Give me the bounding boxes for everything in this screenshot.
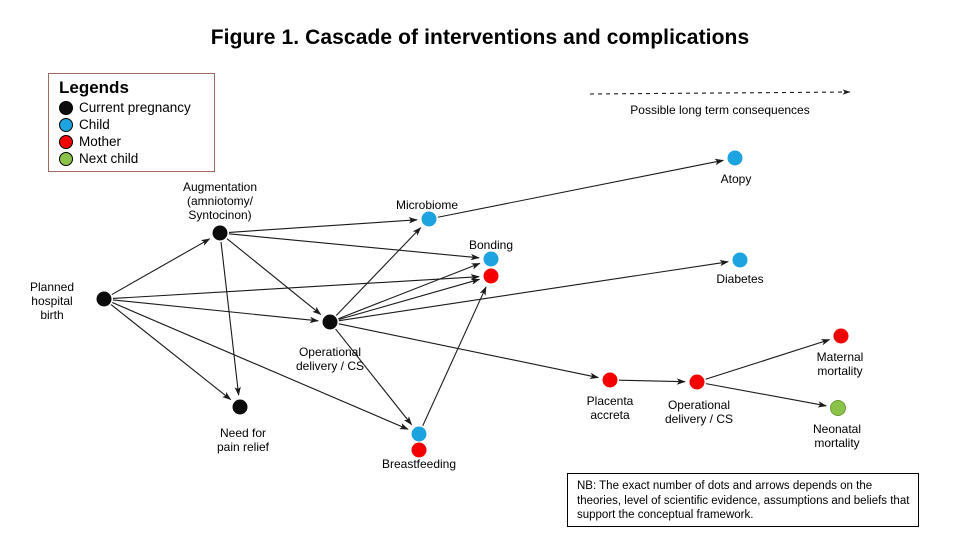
node-dot-op_delivery_2[interactable] [690,375,705,390]
edge-arrow [112,239,210,295]
node-label-planned_birth: Planned hospital birth [30,280,74,322]
edge-arrow [336,329,412,425]
node-dot-breastfeed_child[interactable] [412,427,427,442]
node-dot-breastfeed_mother[interactable] [412,443,427,458]
long-term-consequences-arrow [590,92,850,94]
node-label-microbiome: Microbiome [396,198,458,212]
edge-arrow [339,324,598,378]
node-label-op_delivery_2: Operational delivery / CS [665,398,733,426]
edge-arrow [113,300,318,321]
edge-arrow [229,234,479,258]
legend-dot-blue [59,118,73,132]
legend-item-label: Current pregnancy [79,100,191,115]
node-dot-bonding_mother[interactable] [484,269,499,284]
legend-item: Child [59,116,214,133]
node-label-maternal_mort: Maternal mortality [817,350,864,378]
legend-item: Mother [59,133,214,150]
legend-item-label: Next child [79,151,138,166]
node-label-bonding_child: Bonding [469,238,513,252]
edge-arrow [339,262,728,321]
node-label-pain_relief: Need for pain relief [217,426,269,454]
figure-canvas: Figure 1. Cascade of interventions and c… [0,0,960,540]
node-dot-diabetes[interactable] [733,253,748,268]
edge-arrow [619,380,685,382]
nb-note-box: NB: The exact number of dots and arrows … [567,473,919,527]
legend-item: Current pregnancy [59,99,214,116]
edge-arrow [227,239,321,315]
edge-arrow [221,242,239,395]
node-label-breastfeed_child: Breastfeeding [382,457,456,471]
legend-dot-red [59,135,73,149]
node-dot-microbiome[interactable] [422,212,437,227]
legend-title: Legends [59,78,214,98]
edge-arrow [438,160,723,217]
node-dot-augmentation[interactable] [213,226,228,241]
node-dot-bonding_child[interactable] [484,252,499,267]
legend-dot-black [59,101,73,115]
edge-arrow [336,228,420,316]
node-label-placenta: Placenta accreta [587,394,634,422]
node-label-augmentation: Augmentation (amniotomy/ Syntocinon) [183,180,257,222]
nb-note-text: NB: The exact number of dots and arrows … [577,479,910,523]
node-label-op_delivery_1: Operational delivery / CS [296,345,364,373]
edge-arrow [111,305,231,400]
node-dot-placenta[interactable] [603,373,618,388]
edge-arrow [706,340,830,380]
edge-arrow [229,220,417,233]
node-dot-neonatal_mort[interactable] [831,401,846,416]
node-dot-pain_relief[interactable] [233,400,248,415]
node-dot-op_delivery_1[interactable] [323,315,338,330]
node-label-atopy: Atopy [721,172,752,186]
legend-items: Current pregnancyChildMotherNext child [59,99,214,167]
node-dot-planned_birth[interactable] [97,292,112,307]
legend-box: Legends Current pregnancyChildMotherNext… [48,73,215,172]
legend-item-label: Child [79,117,110,132]
dashed-arrow-caption: Possible long term consequences [630,103,809,117]
node-dot-atopy[interactable] [728,151,743,166]
node-label-diabetes: Diabetes [716,272,763,286]
node-label-neonatal_mort: Neonatal mortality [813,422,861,450]
dashed-arrow [590,92,850,94]
edge-arrow [339,279,480,319]
node-dot-maternal_mort[interactable] [834,329,849,344]
legend-dot-green [59,152,73,166]
legend-item: Next child [59,150,214,167]
edge-arrow [423,287,486,426]
legend-item-label: Mother [79,134,121,149]
